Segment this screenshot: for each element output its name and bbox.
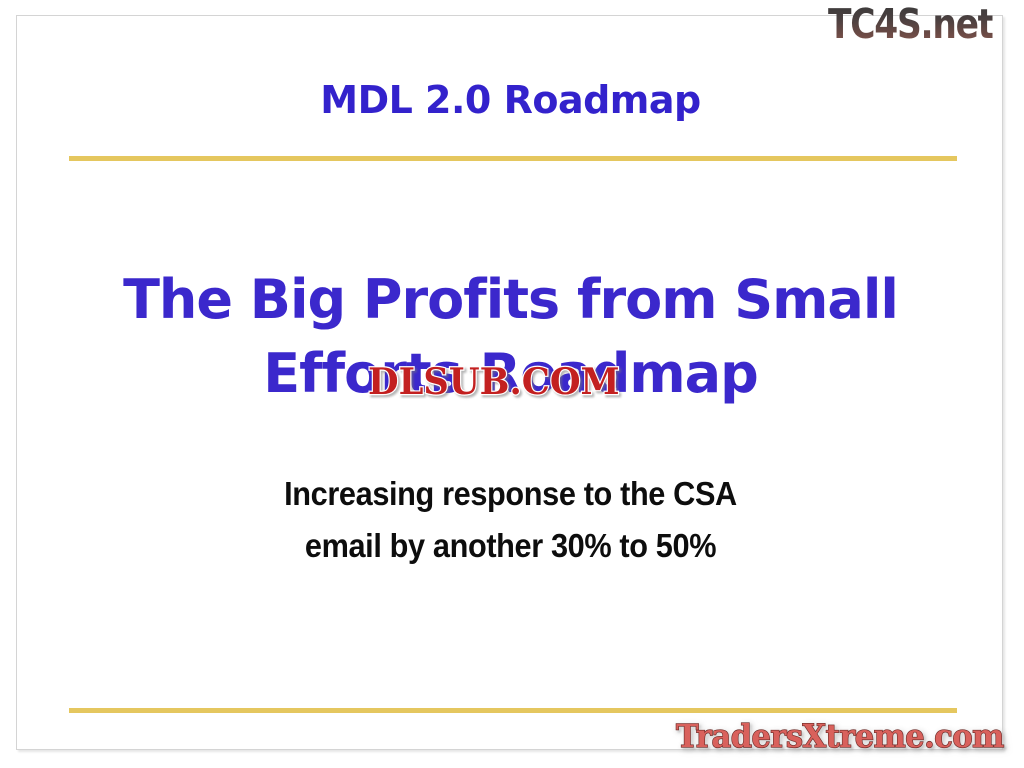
divider-bottom: [69, 708, 957, 713]
watermark-tc4s: TC4S.net: [828, 2, 993, 46]
headline-line-1: The Big Profits from Small: [17, 263, 1004, 337]
page-title: MDL 2.0 Roadmap: [17, 78, 1004, 122]
watermark-dlsub: DLSUB.COM: [368, 362, 620, 402]
slide-canvas: MDL 2.0 Roadmap The Big Profits from Sma…: [0, 0, 1024, 768]
subcopy: Increasing response to the CSA email by …: [52, 468, 970, 572]
subcopy-line-1: Increasing response to the CSA: [52, 468, 970, 520]
watermark-tradersxtreme: TradersXtreme.com: [676, 717, 1004, 755]
subcopy-line-2: email by another 30% to 50%: [52, 520, 970, 572]
divider-top: [69, 156, 957, 161]
